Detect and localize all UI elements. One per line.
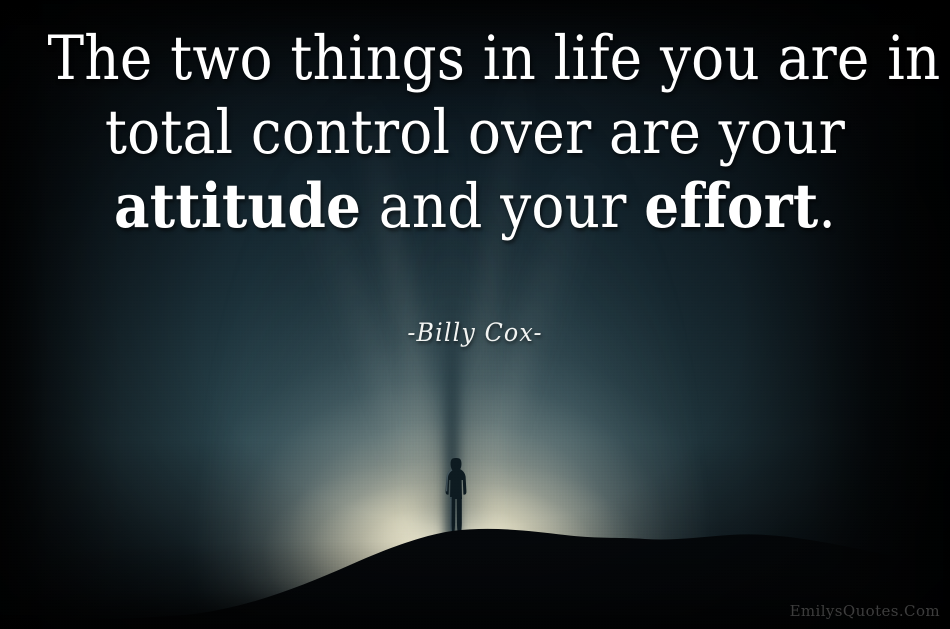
person-silhouette: [441, 458, 471, 534]
quote-line-3-connector: and your: [361, 171, 644, 242]
quote-poster: The two things in life you are in total …: [0, 0, 950, 629]
quote-text-block: The two things in life you are in total …: [0, 22, 950, 244]
quote-attribution: -Billy Cox-: [24, 318, 927, 347]
shadow-ray-diffuse: [426, 203, 478, 533]
site-watermark: EmilysQuotes.Com: [790, 602, 940, 620]
quote-line-1: The two things in life you are in: [48, 22, 903, 96]
quote-emphasis-effort: effort: [644, 171, 818, 242]
quote-line-3: attitude and your effort.: [48, 170, 903, 244]
quote-emphasis-attitude: attitude: [114, 171, 361, 242]
quote-line-3-period: .: [818, 171, 836, 242]
quote-line-2: total control over are your: [48, 96, 903, 170]
